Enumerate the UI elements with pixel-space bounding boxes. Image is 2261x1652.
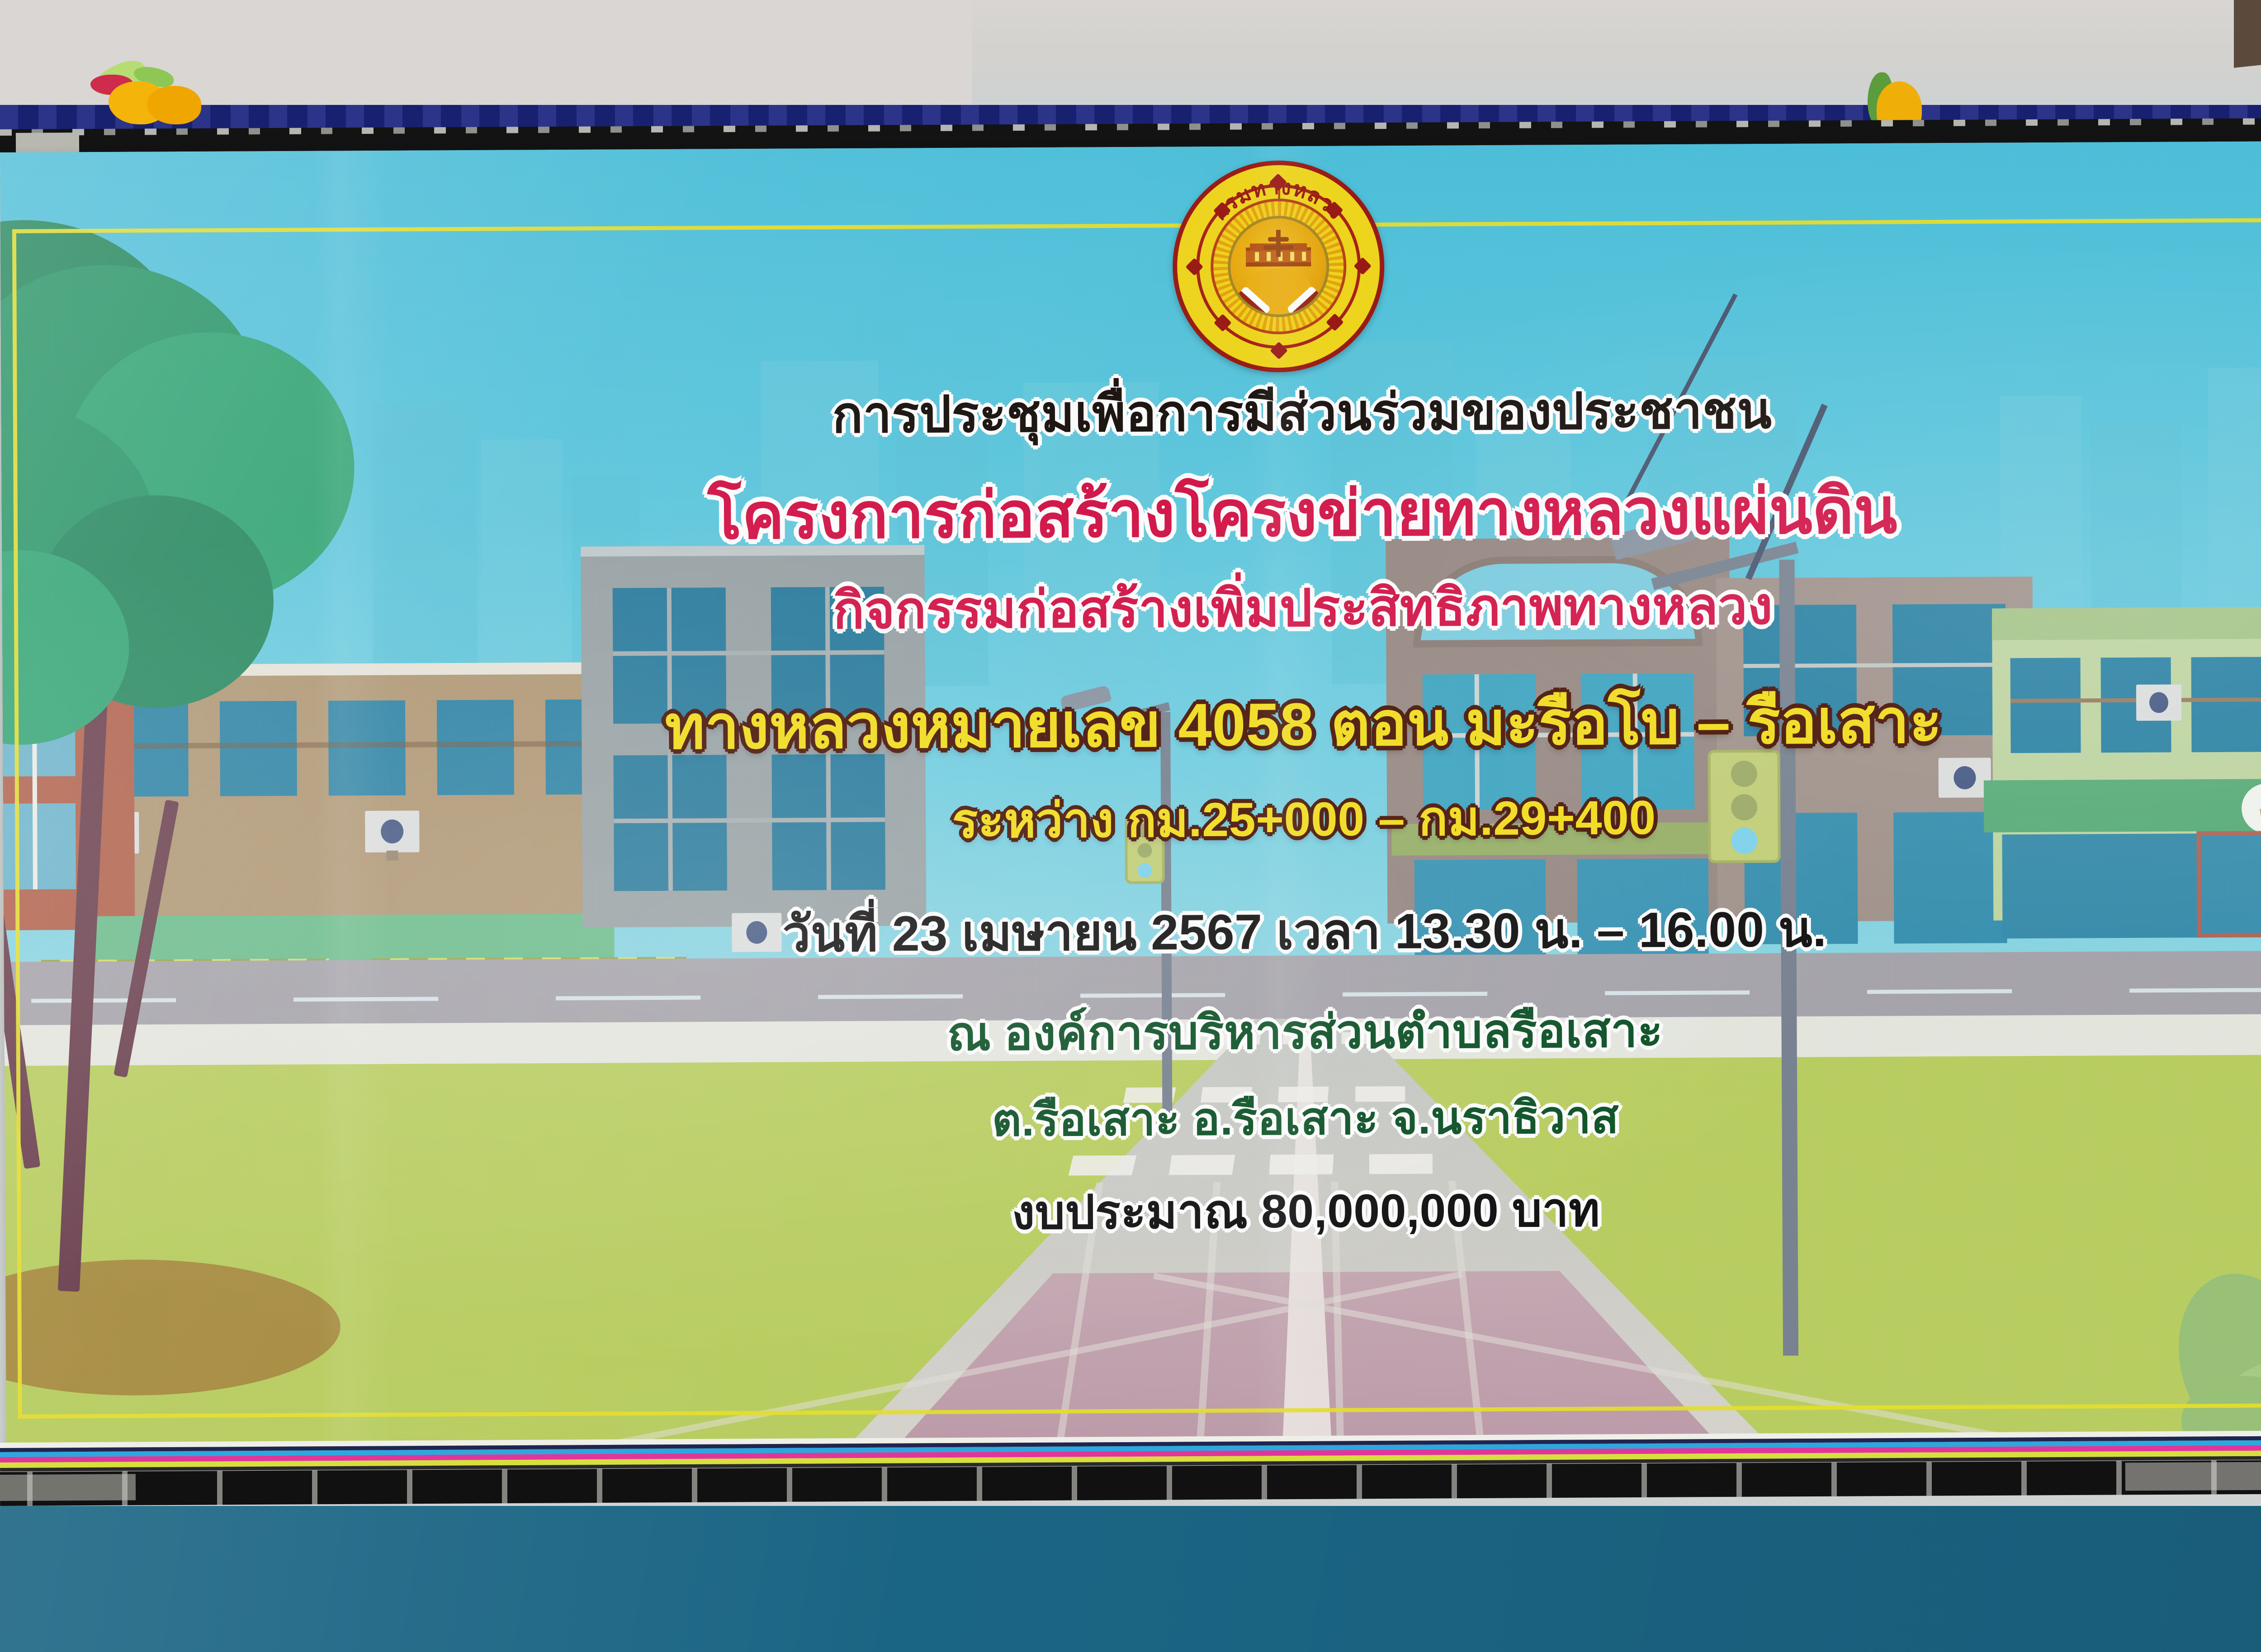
budget-line: งบประมาณ 80,000,000 บาท <box>5 1167 2261 1254</box>
venue-line: ณ องค์การบริหารส่วนตำบลรือเสาะ <box>4 988 2261 1075</box>
address-line: ต.รือเสาะ อ.รือเสาะ จ.นราธิวาส <box>5 1076 2261 1161</box>
flower-decoration-left <box>68 43 217 133</box>
route-line: ทางหลวงหมายเลข 4058 ตอน มะรือโบ – รือเสา… <box>3 670 2261 779</box>
date-time-line: วันที่ 23 เมษายน 2567 เวลา 13.30 น. – 16… <box>4 886 2261 977</box>
km-range-line: ระหว่าง กม.25+000 – กม.29+400 <box>3 774 2261 863</box>
project-subtitle: กิจกรรมก่อสร้างเพิ่มประสิทธิภาพทางหลวง <box>2 561 2261 655</box>
department-of-highways-seal: กรมทางหลวง <box>1172 160 1385 373</box>
banner-text-block: การประชุมเพื่อการมีส่วนร่วมของประชาชน โค… <box>1 366 2261 1254</box>
photo-scene: กรมทางหลวง การประชุมเพื่อการมีส่วนร่วมขอ… <box>0 0 2261 1652</box>
highway-meeting-banner: กรมทางหลวง การประชุมเพื่อการมีส่วนร่วมขอ… <box>0 140 2261 1450</box>
room-wall-lower <box>0 1506 2261 1652</box>
meeting-header-line: การประชุมเพื่อการมีส่วนร่วมของประชาชน <box>1 366 2261 459</box>
project-title: โครงการก่อสร้างโครงข่ายทางหลวงแผ่นดิน <box>1 456 2261 570</box>
ceiling-beam <box>2234 0 2261 68</box>
